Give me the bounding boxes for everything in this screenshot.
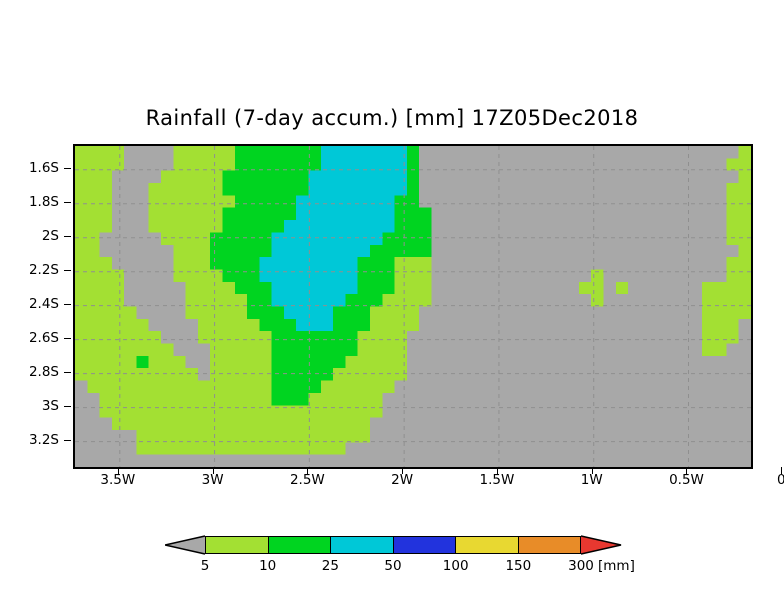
colorbar-tick-label: 150 bbox=[505, 558, 531, 574]
x-axis-tick-label: 3W bbox=[202, 472, 224, 488]
colorbar-segment bbox=[269, 536, 332, 554]
x-axis-tick-label: 3.5W bbox=[100, 472, 135, 488]
y-axis-tick-label: 1.6S bbox=[0, 160, 59, 176]
y-axis-tick bbox=[64, 304, 71, 305]
x-axis-tick-label: 1W bbox=[581, 472, 603, 488]
page-title: Rainfall (7-day accum.) [mm] 17Z05Dec201… bbox=[0, 106, 784, 130]
colorbar-tick-label: 5 bbox=[201, 558, 210, 574]
y-axis-tick-label: 2.6S bbox=[0, 330, 59, 346]
colorbar-tick-label: 300 bbox=[568, 558, 594, 574]
y-axis-tick bbox=[64, 270, 71, 271]
y-axis-tick bbox=[64, 202, 71, 203]
colorbar-segments bbox=[205, 536, 581, 554]
x-axis-tick-label: 2.5W bbox=[290, 472, 325, 488]
heatmap-plot-area bbox=[75, 146, 751, 467]
y-axis-tick-label: 2.8S bbox=[0, 364, 59, 380]
colorbar-low-extend-outline bbox=[165, 535, 207, 557]
y-axis-tick-label: 2.2S bbox=[0, 262, 59, 278]
y-axis-tick bbox=[64, 168, 71, 169]
colorbar-units-label: [mm] bbox=[598, 558, 635, 574]
x-axis-tick-label: 2W bbox=[391, 472, 413, 488]
colorbar-segment bbox=[519, 536, 582, 554]
y-axis-tick-label: 3.2S bbox=[0, 432, 59, 448]
colorbar: 5102550100150300 [mm] bbox=[0, 528, 784, 588]
y-axis-tick bbox=[64, 406, 71, 407]
y-axis-tick-label: 1.8S bbox=[0, 194, 59, 210]
colorbar-tick-label: 100 bbox=[443, 558, 469, 574]
plot-frame bbox=[73, 144, 753, 469]
colorbar-tick-label: 25 bbox=[322, 558, 339, 574]
y-axis-tick-label: 2.4S bbox=[0, 296, 59, 312]
colorbar-segment bbox=[394, 536, 457, 554]
colorbar-tick-label: 50 bbox=[384, 558, 401, 574]
y-axis-tick-label: 2S bbox=[0, 228, 59, 244]
y-axis-tick bbox=[64, 372, 71, 373]
y-axis-tick bbox=[64, 440, 71, 441]
colorbar-high-extend-outline bbox=[581, 535, 623, 557]
colorbar-tick-label: 10 bbox=[259, 558, 276, 574]
colorbar-segment bbox=[205, 536, 269, 554]
x-axis-tick-label: 0.5W bbox=[669, 472, 704, 488]
y-axis-tick bbox=[64, 236, 71, 237]
y-axis-tick bbox=[64, 338, 71, 339]
x-axis-tick-label: 0 bbox=[777, 472, 784, 488]
rainfall-heatmap bbox=[75, 146, 751, 467]
colorbar-segment bbox=[331, 536, 394, 554]
rainfall-map-figure: Rainfall (7-day accum.) [mm] 17Z05Dec201… bbox=[0, 0, 784, 612]
colorbar-segment bbox=[456, 536, 519, 554]
x-axis-tick-label: 1.5W bbox=[480, 472, 515, 488]
y-axis-tick-label: 3S bbox=[0, 398, 59, 414]
